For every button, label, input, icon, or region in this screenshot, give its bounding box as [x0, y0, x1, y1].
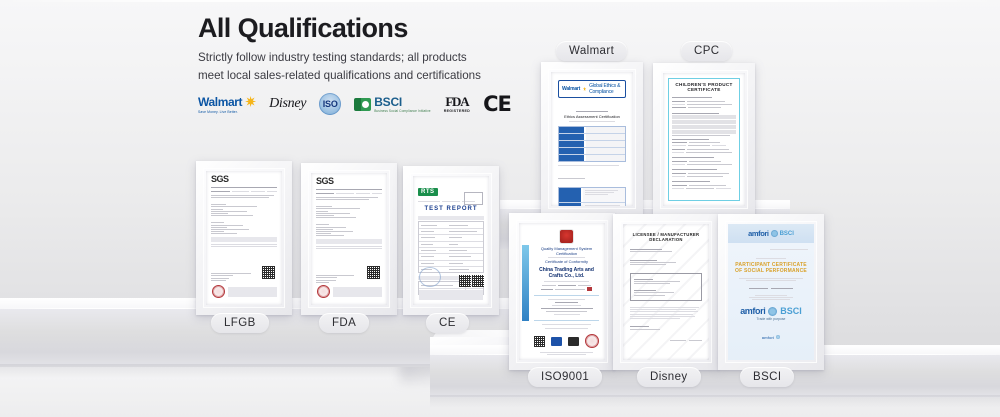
cpc-border: CHILDREN'S PRODUCT CERTIFICATE: [668, 78, 740, 201]
document-cpc: CHILDREN'S PRODUCT CERTIFICATE: [663, 73, 745, 206]
walmart-doc-title: Global Ethics & Compliance: [589, 83, 622, 95]
document-disney: LICENSEE / MANUFACTURER DECLARATION: [623, 224, 709, 360]
brand-logo-row: Walmart Save Money. Live Better. Disney …: [198, 88, 511, 120]
iso-globe-icon: ISO: [319, 93, 341, 115]
certificate-frame-disney[interactable]: LICENSEE / MANUFACTURER DECLARATION: [613, 214, 719, 370]
national-emblem-icon: [560, 230, 573, 243]
amfori-brand-text-large: amfori: [740, 307, 765, 316]
certificate-frame-iso9001[interactable]: Quality Management System Certification …: [509, 213, 615, 370]
disney-logo: Disney: [269, 90, 306, 118]
walmart-logo-text: Walmart: [198, 95, 242, 109]
qr-code-4: [472, 275, 484, 287]
floor-highlight: [0, 0, 1000, 2]
iso-doc-line2: Certificate of Conformity: [534, 259, 599, 264]
official-seal-icon-3: [585, 334, 599, 348]
walmart-doc-subtitle: Ethics Assessment Certification: [558, 114, 626, 119]
fda-logo-tagline: REGISTERED: [444, 109, 470, 113]
amfori-scheme-text: BSCI: [780, 231, 794, 237]
walmart-spark-icon: [245, 96, 256, 107]
sgs-logo-mark: SGS: [211, 175, 277, 184]
label-lfgb[interactable]: LFGB: [211, 313, 269, 333]
amfori-brand-text: amfori: [748, 230, 769, 238]
fda-logo-text: FDA: [445, 95, 468, 108]
rts-logo-mark: RTS: [418, 188, 438, 196]
document-iso9001: Quality Management System Certification …: [519, 223, 605, 360]
label-cpc[interactable]: CPC: [681, 41, 732, 61]
walmart-doc-header: Walmart Global Ethics & Compliance: [558, 80, 626, 98]
accreditation-seal-icon: [419, 267, 441, 287]
label-walmart[interactable]: Walmart: [556, 41, 627, 61]
walmart-star-icon: [583, 87, 586, 92]
walmart-logo-tagline: Save Money. Live Better.: [198, 110, 238, 114]
qr-code-5: [534, 336, 545, 347]
qr-code-3: [459, 275, 471, 287]
sgs-logo-mark-2: SGS: [316, 177, 382, 186]
certificate-frame-cpc[interactable]: CHILDREN'S PRODUCT CERTIFICATE: [653, 63, 755, 216]
qr-code-2: [367, 266, 380, 279]
document-sgs-lfgb: SGS: [206, 171, 282, 305]
document-sgs-fda: SGS: [311, 173, 387, 305]
amfori-ring-icon-footer: [776, 335, 780, 339]
cnas-badge-icon: [551, 337, 562, 346]
label-disney[interactable]: Disney: [637, 367, 701, 387]
bsci-mark-icon: [354, 98, 371, 111]
page-subtitle: Strictly follow industry testing standar…: [198, 49, 488, 84]
label-bsci[interactable]: BSCI: [740, 367, 794, 387]
iso-logo: ISO: [319, 90, 341, 118]
ce-logo: CE: [483, 90, 511, 118]
iso-doc-line1: Quality Management System Certification: [534, 246, 599, 256]
walmart-logo: Walmart Save Money. Live Better.: [198, 90, 256, 118]
disney-doc-title: LICENSEE / MANUFACTURER DECLARATION: [630, 232, 702, 242]
amfori-footer-brand: amfori: [762, 335, 774, 340]
amfori-ring-icon-large: [768, 307, 777, 316]
iso-side-band: [522, 245, 529, 321]
certificate-frame-bsci[interactable]: amfori BSCI PARTICIPANT CERTIFICATE OF S…: [718, 214, 824, 370]
header-block: All Qualifications Strictly follow indus…: [198, 14, 498, 84]
iso-doc-company: China Trading Arts and Crafts Co., Ltd.: [534, 267, 599, 279]
amfori-scheme-text-large: BSCI: [780, 307, 802, 316]
cpc-doc-title: CHILDREN'S PRODUCT CERTIFICATE: [672, 82, 736, 92]
amfori-ring-icon: [771, 230, 778, 237]
amfori-certificate-title: PARTICIPANT CERTIFICATE OF SOCIAL PERFOR…: [734, 262, 808, 275]
page-title: All Qualifications: [198, 14, 498, 42]
certificate-frame-lfgb[interactable]: SGS: [196, 161, 292, 315]
fda-logo: FDA REGISTERED: [444, 90, 470, 118]
rts-doc-title: TEST REPORT: [418, 206, 484, 212]
qualifications-showcase: All Qualifications Strictly follow indus…: [0, 0, 1000, 417]
bsci-logo-tagline: Business Social Compliance Initiative: [374, 109, 431, 113]
walmart-doc-brand: Walmart: [562, 86, 580, 92]
qr-code: [262, 266, 275, 279]
document-walmart: Walmart Global Ethics & Compliance Ethic…: [551, 72, 633, 206]
iso-logo-text: ISO: [323, 99, 338, 109]
label-ce[interactable]: CE: [426, 313, 469, 333]
bsci-logo: BSCI Business Social Compliance Initiati…: [354, 90, 431, 118]
certificate-frame-walmart[interactable]: Walmart Global Ethics & Compliance Ethic…: [541, 62, 643, 216]
certificate-frame-fda[interactable]: SGS: [301, 163, 397, 315]
label-iso9001[interactable]: ISO9001: [528, 367, 602, 387]
amfori-header-band: amfori BSCI: [728, 224, 814, 243]
label-fda[interactable]: FDA: [319, 313, 369, 333]
accreditation-badge-icon: [568, 337, 579, 346]
official-seal-icon: [212, 285, 225, 298]
certificate-frame-ce[interactable]: RTS TEST REPORT: [403, 166, 499, 315]
official-seal-icon-2: [317, 285, 330, 298]
walmart-doc-ref: [558, 104, 626, 109]
document-rts-ce: RTS TEST REPORT: [413, 176, 489, 305]
document-amfori-bsci: amfori BSCI PARTICIPANT CERTIFICATE OF S…: [728, 224, 814, 360]
bsci-logo-text: BSCI: [374, 96, 431, 108]
